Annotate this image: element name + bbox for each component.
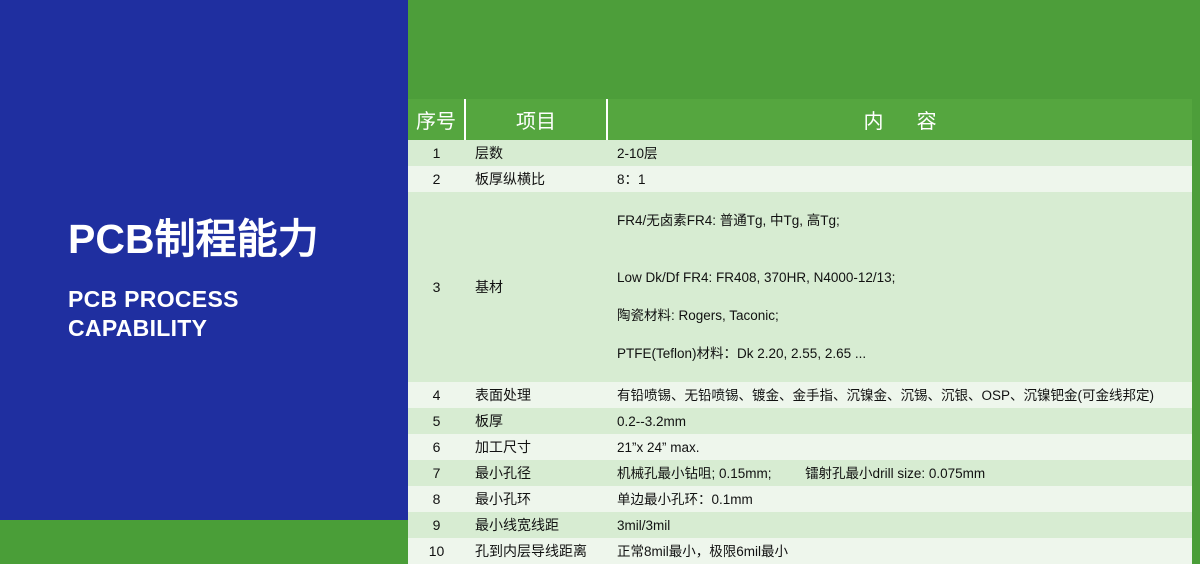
cell-content: 有铅喷锡、无铅喷锡、镀金、金手指、沉镍金、沉锡、沉银、OSP、沉镍钯金(可金线邦… [607,382,1192,408]
table-row: 9 最小线宽线距 3mil/3mil [408,512,1192,538]
cell-no: 4 [408,382,465,408]
cell-item: 最小孔环 [465,486,607,512]
page-subtitle-line-2: CAPABILITY [68,314,398,343]
cell-no: 10 [408,538,465,564]
cell-content: 3mil/3mil [607,512,1192,538]
table-row: 2 板厚纵横比 8：1 [408,166,1192,192]
page-subtitle-line-1: PCB PROCESS [68,285,398,314]
table-row: 5 板厚 0.2--3.2mm [408,408,1192,434]
cell-item: 最小线宽线距 [465,512,607,538]
page-title-chinese: PCB制程能力 [68,215,398,263]
cell-content: 8：1 [607,166,1192,192]
table-header-row: 序号 项目 内 容 [408,99,1192,140]
column-header-no: 序号 [408,99,465,140]
min-hole-part-b: 镭射孔最小drill size: 0.075mm [805,466,985,481]
table-row: 4 表面处理 有铅喷锡、无铅喷锡、镀金、金手指、沉镍金、沉锡、沉银、OSP、沉镍… [408,382,1192,408]
cell-content: 21”x 24” max. [607,434,1192,460]
cell-no: 6 [408,434,465,460]
cell-no: 7 [408,460,465,486]
cell-no: 2 [408,166,465,192]
table-row: 1 层数 2-10层 [408,140,1192,166]
cell-content: 2-10层 [607,140,1192,166]
cell-no: 3 [408,192,465,382]
column-header-content-char-2: 容 [917,105,937,134]
material-line-2: Low Dk/Df FR4: FR408, 370HR, N4000-12/13… [617,249,1188,325]
cell-item: 孔到内层导线距离 [465,538,607,564]
cell-item: 板厚 [465,408,607,434]
table-row: 7 最小孔径 机械孔最小钻咀; 0.15mm; 镭射孔最小drill size:… [408,460,1192,486]
cell-no: 9 [408,512,465,538]
table-row: 3 基材 FR4/无卤素FR4: 普通Tg, 中Tg, 高Tg; Low Dk/… [408,192,1192,382]
cell-item: 板厚纵横比 [465,166,607,192]
cell-no: 1 [408,140,465,166]
column-header-content-char-1: 内 [863,105,883,134]
material-line-1: FR4/无卤素FR4: 普通Tg, 中Tg, 高Tg; [617,211,1188,230]
cell-content: 单边最小孔环：0.1mm [607,486,1192,512]
cell-content: FR4/无卤素FR4: 普通Tg, 中Tg, 高Tg; Low Dk/Df FR… [607,192,1192,382]
cell-no: 8 [408,486,465,512]
cell-content-multiline: FR4/无卤素FR4: 普通Tg, 中Tg, 高Tg; Low Dk/Df FR… [617,192,1188,382]
cell-no: 5 [408,408,465,434]
table-row: 6 加工尺寸 21”x 24” max. [408,434,1192,460]
pcb-capability-table: 序号 项目 内 容 1 层数 2-10层 2 板厚纵横比 [408,99,1192,564]
table-header: 序号 项目 内 容 [408,99,1192,140]
material-line-3: PTFE(Teflon)材料：Dk 2.20, 2.55, 2.65 ... [617,344,1188,363]
cell-content: 正常8mil最小，极限6mil最小 [607,538,1192,564]
material-line-2-part-a: Low Dk/Df FR4: FR408, 370HR, N4000-12/13… [617,270,895,285]
column-header-content: 内 容 [607,99,1192,140]
column-header-item: 项目 [465,99,607,140]
table-row: 10 孔到内层导线距离 正常8mil最小，极限6mil最小 [408,538,1192,564]
material-line-2-part-b: 陶瓷材料: Rogers, Taconic; [617,308,779,323]
spec-table-container: 序号 项目 内 容 1 层数 2-10层 2 板厚纵横比 [408,99,1192,564]
left-title-panel: PCB制程能力 PCB PROCESS CAPABILITY [0,0,408,520]
cell-item: 表面处理 [465,382,607,408]
table-body: 1 层数 2-10层 2 板厚纵横比 8：1 3 基材 FR4/无卤素FR4: … [408,140,1192,564]
cell-item: 最小孔径 [465,460,607,486]
cell-content: 机械孔最小钻咀; 0.15mm; 镭射孔最小drill size: 0.075m… [607,460,1192,486]
cell-item: 加工尺寸 [465,434,607,460]
cell-item: 层数 [465,140,607,166]
min-hole-part-a: 机械孔最小钻咀; 0.15mm; [617,466,772,481]
title-block: PCB制程能力 PCB PROCESS CAPABILITY [68,215,398,343]
cell-item: 基材 [465,192,607,382]
table-row: 8 最小孔环 单边最小孔环：0.1mm [408,486,1192,512]
cell-content: 0.2--3.2mm [607,408,1192,434]
page-subtitle-english: PCB PROCESS CAPABILITY [68,285,398,343]
slide-canvas: PCB制程能力 PCB PROCESS CAPABILITY 序号 项目 内 [0,0,1200,520]
